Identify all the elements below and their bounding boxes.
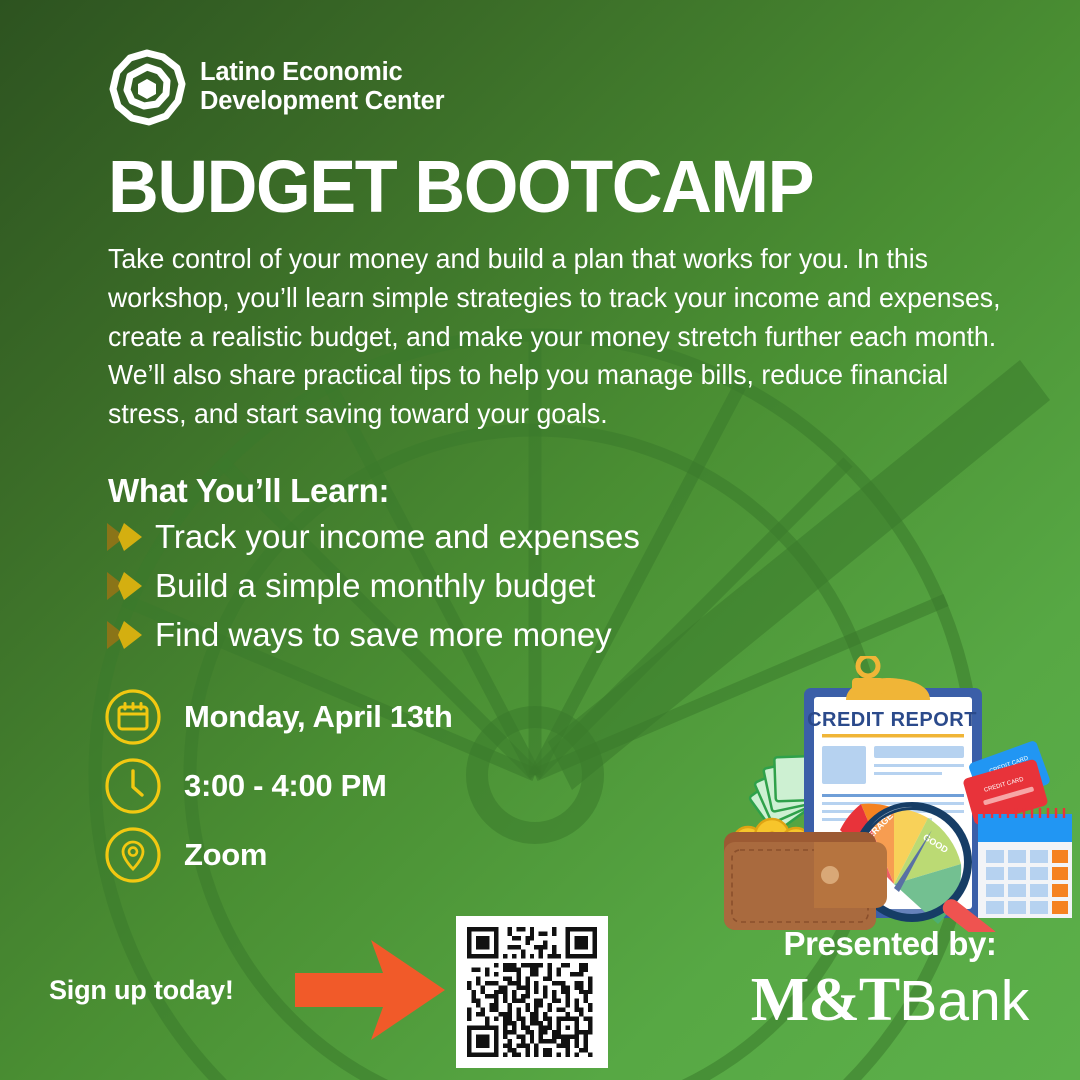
double-chevron-icon [105, 569, 149, 603]
body-paragraph: Take control of your money and build a p… [108, 240, 1010, 434]
list-item: Track your income and expenses [105, 512, 865, 561]
clock-icon [104, 757, 162, 815]
detail-row-date: Monday, April 13th [104, 682, 452, 751]
org-logo: Latino Economic Development Center [108, 48, 444, 126]
org-name-line2: Development Center [200, 87, 444, 116]
signup-label: Sign up today! [49, 975, 234, 1006]
detail-row-time: 3:00 - 4:00 PM [104, 751, 452, 820]
svg-text:CREDIT REPORT: CREDIT REPORT [807, 709, 977, 731]
credit-report-finance-illustration: $ $ CREDIT REPORT [706, 656, 1080, 932]
list-item: Build a simple monthly budget [105, 561, 865, 610]
double-chevron-icon [105, 618, 149, 652]
wallet-icon [724, 832, 887, 930]
sponsor-brand-serif: M&T [751, 966, 900, 1034]
detail-text-time: 3:00 - 4:00 PM [184, 768, 387, 804]
list-item-label: Find ways to save more money [155, 618, 612, 651]
detail-text-location: Zoom [184, 837, 267, 873]
sponsor-brand-sans: Bank [899, 969, 1029, 1033]
qr-code[interactable] [456, 916, 608, 1068]
location-pin-icon [104, 826, 162, 884]
qr-code-image [467, 927, 597, 1057]
detail-row-location: Zoom [104, 820, 452, 889]
learn-heading: What You’ll Learn: [108, 472, 389, 510]
event-details: Monday, April 13th 3:00 - 4:00 PM Zoom [104, 682, 452, 889]
sponsor-logo: M&TBank [710, 965, 1070, 1036]
list-item-label: Build a simple monthly budget [155, 569, 595, 602]
learn-list: Track your income and expenses Build a s… [105, 512, 865, 659]
calendar-icon [104, 688, 162, 746]
right-arrow-icon [295, 940, 445, 1040]
page-title: BUDGET BOOTCAMP [108, 152, 813, 222]
double-chevron-icon [105, 520, 149, 554]
org-name: Latino Economic Development Center [200, 58, 444, 115]
flyer-canvas: Latino Economic Development Center BUDGE… [0, 0, 1080, 1080]
org-name-line1: Latino Economic [200, 58, 444, 87]
desk-calendar-icon [978, 808, 1072, 918]
detail-text-date: Monday, April 13th [184, 699, 452, 735]
list-item-label: Track your income and expenses [155, 520, 640, 553]
list-item: Find ways to save more money [105, 610, 865, 659]
concentric-rings-logo-icon [108, 48, 186, 126]
